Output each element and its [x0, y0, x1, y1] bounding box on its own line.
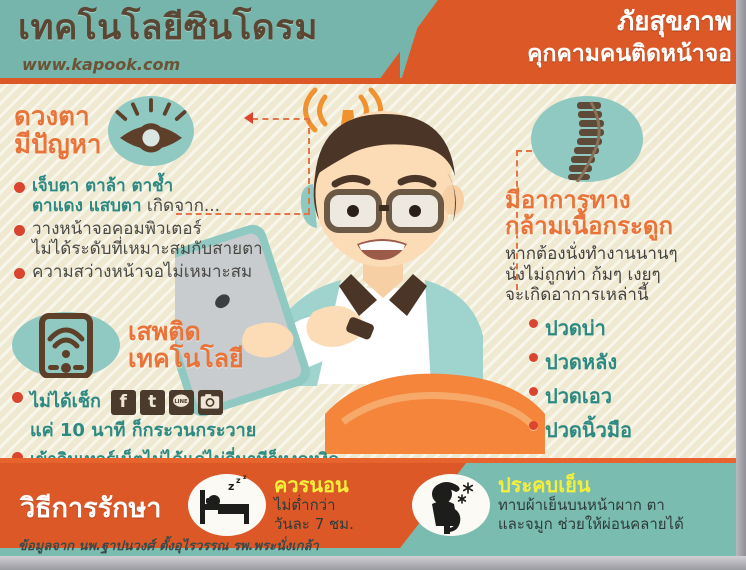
tech-bullet-1: ไม่ได้เช็ก f t LINE — [30, 386, 256, 444]
tech-section-header: เสพติด เทคโนโลยี — [12, 312, 342, 378]
eye-section-header: ดวงตา มีปัญหา — [14, 96, 314, 166]
line-chat-bubble-icon: LINE — [170, 391, 192, 413]
section-eye-problems: ดวงตา มีปัญหา เจ็บตา ตาล้า — [14, 96, 314, 284]
spine-lead-line1: หากต้องนั่งทำงานนานๆ — [505, 244, 737, 265]
tip-sleep-title: ควรนอน — [274, 474, 354, 496]
eye-section-title: ดวงตา มีปัญหา — [14, 103, 102, 159]
eye-bullet-1-tail: เกิดจาก... — [147, 196, 220, 216]
tip-cold-line1: ทาบผ้าเย็นบนหน้าผาก ตา — [498, 496, 684, 515]
eye-icon — [108, 96, 194, 166]
eye-bullet-2-line1: วางหน้าจอคอมพิวเตอร์ — [32, 219, 202, 239]
twitter-icon[interactable]: t — [140, 390, 165, 415]
camera-icon — [199, 391, 221, 413]
spine-bullet-3: ปวดเอว — [545, 380, 612, 412]
smartphone-wifi-icon — [12, 312, 120, 378]
tech-title-line1: เสพติด — [128, 318, 244, 345]
eye-bullet-1-line2: ตาแดง แสบตา — [32, 196, 142, 216]
cold-compress-icon-badge — [412, 474, 490, 536]
bullet-dot — [529, 421, 538, 430]
list-item: ปวดหลัง — [529, 346, 737, 378]
tech-bullet-1-pre: ไม่ได้เช็ก — [30, 391, 101, 412]
spine-title-line2: กล้ามเนื้อกระดูก — [505, 214, 737, 240]
list-item: เจ็บตา ตาล้า ตาช้ำ ตาแดง แสบตา เกิดจาก..… — [14, 176, 314, 217]
tip-sleep-text: ควรนอน ไม่ต่ำกว่า วันละ 7 ชม. — [274, 474, 354, 534]
section-musculoskeletal: มีอาการทาง กล้ามเนื้อกระดูก หากต้องนั่งท… — [505, 96, 737, 448]
list-item: วางหน้าจอคอมพิวเตอร์ ไม่ได้ระดับที่เหมาะ… — [14, 219, 314, 260]
eye-title-line2: มีปัญหา — [14, 131, 102, 159]
spine-lead-line3: จะเกิดอาการเหล่านี้ — [505, 285, 737, 306]
tech-section-title: เสพติด เทคโนโลยี — [128, 318, 244, 372]
spine-bullet-list: ปวดบ่า ปวดหลัง ปวดเอว ปวดนิ้วมือ — [529, 312, 737, 446]
spine-bullet-2: ปวดหลัง — [545, 346, 617, 378]
bullet-dot — [14, 268, 25, 279]
eye-title-line1: ดวงตา — [14, 103, 102, 131]
spine-bullet-4: ปวดนิ้วมือ — [545, 414, 632, 446]
list-item: ไม่ได้เช็ก f t LINE — [12, 386, 342, 444]
bullet-dot — [529, 353, 538, 362]
footer-top-rule — [0, 458, 746, 463]
tip-sleep-line1: ไม่ต่ำกว่า — [274, 496, 354, 515]
tech-title-line2: เทคโนโลยี — [128, 345, 244, 372]
footer-title: วิธีการรักษา — [20, 486, 161, 529]
spine-bullet-1: ปวดบ่า — [545, 312, 606, 344]
spine-section-title: มีอาการทาง กล้ามเนื้อกระดูก — [505, 188, 737, 240]
spine-icon-badge — [531, 96, 643, 182]
bullet-dot — [12, 392, 23, 403]
header-banner: เทคโนโลยีซินโดรม www.kapook.com ภัยสุขภา… — [0, 0, 746, 84]
facebook-icon[interactable]: f — [111, 390, 136, 415]
bullet-dot — [14, 225, 25, 236]
eye-bullet-1-line1: เจ็บตา ตาล้า ตาช้ำ — [32, 176, 173, 196]
tip-cold-line2: และจมูก ช่วยให้ผ่อนคลายได้ — [498, 515, 684, 534]
eye-bullet-2-line2: ไม่ได้ระดับที่เหมาะสมกับสายตา — [32, 239, 263, 259]
line-icon[interactable]: LINE — [169, 390, 194, 415]
tip-cold-title: ประคบเย็น — [498, 474, 684, 496]
eye-icon-badge — [108, 96, 194, 166]
social-icon-row: f t LINE — [111, 390, 223, 415]
page-title: เทคโนโลยีซินโดรม — [18, 8, 318, 48]
tech-bullet-1-line2: แค่ 10 นาที ก็กระวนกระวาย — [30, 420, 256, 441]
site-url: www.kapook.com — [22, 55, 180, 74]
instagram-icon[interactable] — [198, 390, 223, 415]
smartphone-icon-badge — [12, 312, 120, 378]
svg-text:z: z — [243, 474, 247, 481]
footer-treatment-bar: วิธีการรักษา z z z — [0, 458, 746, 570]
eye-bullet-list: เจ็บตา ตาล้า ตาช้ำ ตาแดง แสบตา เกิดจาก..… — [14, 176, 314, 282]
spine-lead-text: หากต้องนั่งทำงานนานๆ นั่งไม่ถูกท่า ก้มๆ … — [505, 244, 737, 306]
tip-sleep: z z z ควรนอน ไม่ต่ำกว่า วันละ 7 ชม. — [188, 474, 354, 536]
spine-title-line1: มีอาการทาง — [505, 188, 737, 214]
sleep-icon-badge: z z z — [188, 474, 266, 536]
header-subtitle-line1: ภัยสุขภาพ — [527, 6, 732, 38]
bullet-dot — [14, 182, 25, 193]
poster-right-edge — [736, 0, 746, 570]
list-item: ปวดนิ้วมือ — [529, 414, 737, 446]
tip-cold-compress: ประคบเย็น ทาบผ้าเย็นบนหน้าผาก ตา และจมูก… — [412, 474, 684, 536]
eye-bullet-1: เจ็บตา ตาล้า ตาช้ำ ตาแดง แสบตา เกิดจาก..… — [32, 176, 220, 217]
svg-text:z: z — [228, 480, 234, 493]
cold-compress-icon — [412, 474, 490, 536]
svg-text:LINE: LINE — [175, 399, 189, 405]
list-item: ความสว่างหน้าจอไม่เหมาะสม — [14, 262, 314, 282]
spine-lead-line2: นั่งไม่ถูกท่า ก้มๆ เงยๆ — [505, 265, 737, 286]
infographic-poster: เทคโนโลยีซินโดรม www.kapook.com ภัยสุขภา… — [0, 0, 746, 570]
spine-icon — [531, 96, 643, 182]
header-subtitle-line2: คุกคามคนติดหน้าจอ — [527, 38, 732, 70]
header-subtitle: ภัยสุขภาพ คุกคามคนติดหน้าจอ — [527, 6, 732, 70]
footer-credit: ข้อมูลจาก นพ.ฐาปนวงศ์ ตั้งอุไรวรรณ รพ.พร… — [18, 535, 319, 556]
poster-bottom-edge — [0, 556, 746, 570]
sleeping-in-bed-icon: z z z — [188, 474, 266, 536]
tip-cold-text: ประคบเย็น ทาบผ้าเย็นบนหน้าผาก ตา และจมูก… — [498, 474, 684, 534]
eye-bullet-3: ความสว่างหน้าจอไม่เหมาะสม — [32, 262, 252, 282]
bullet-dot — [529, 387, 538, 396]
bullet-dot — [529, 319, 538, 328]
tip-sleep-line2: วันละ 7 ชม. — [274, 515, 354, 534]
svg-text:z: z — [236, 476, 241, 485]
list-item: ปวดบ่า — [529, 312, 737, 344]
list-item: ปวดเอว — [529, 380, 737, 412]
eye-bullet-2: วางหน้าจอคอมพิวเตอร์ ไม่ได้ระดับที่เหมาะ… — [32, 219, 263, 260]
